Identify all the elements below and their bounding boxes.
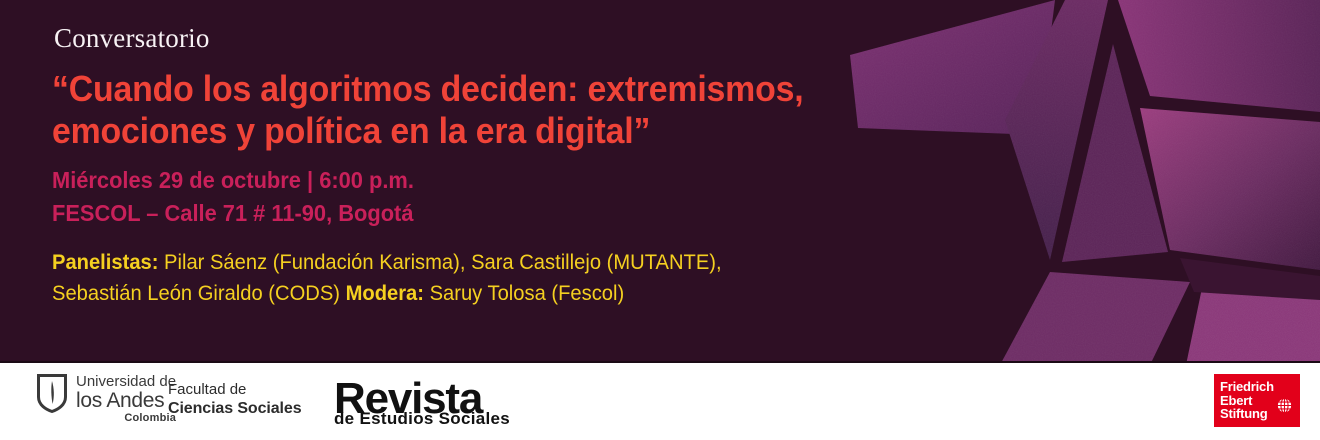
fes-line-1: Friedrich	[1220, 380, 1274, 394]
event-meta: Miércoles 29 de octubre | 6:00 p.m. FESC…	[52, 164, 839, 231]
logo-facultad-ciencias-sociales: Facultad de Ciencias Sociales	[168, 381, 302, 419]
logo-friedrich-ebert-stiftung: Friedrich Ebert Stiftung	[1214, 374, 1300, 427]
logo-footer: Universidad de los Andes Colombia Facult…	[0, 361, 1320, 440]
facultad-line-1: Facultad de	[168, 381, 302, 399]
page-title: “Cuando los algoritmos deciden: extremis…	[52, 68, 830, 152]
facultad-line-2: Ciencias Sociales	[168, 399, 302, 419]
panelists-line-1: Panelistas: Pilar Sáenz (Fundación Karis…	[52, 247, 847, 278]
banner-content: Conversatorio “Cuando los algoritmos dec…	[0, 0, 880, 365]
panelists-block: Panelistas: Pilar Sáenz (Fundación Karis…	[52, 247, 847, 309]
uniandes-wordmark: Universidad de los Andes Colombia	[76, 373, 176, 425]
panelists-names-1: Pilar Sáenz (Fundación Karisma), Sara Ca…	[158, 251, 721, 274]
panelists-line-2: Sebastián León Giraldo (CODS) Modera: Sa…	[52, 278, 847, 309]
uniandes-line-3: Colombia	[76, 413, 176, 424]
uniandes-line-1: Universidad de	[76, 374, 176, 390]
uniandes-line-2: los Andes	[76, 390, 176, 412]
moderator-name: Saruy Tolosa (Fescol)	[424, 282, 624, 305]
geometric-artwork	[850, 0, 1320, 365]
globe-icon	[1276, 397, 1293, 414]
kicker-label: Conversatorio	[54, 24, 880, 54]
panelists-names-2: Sebastián León Giraldo (CODS)	[52, 282, 346, 305]
fes-line-3: Stiftung	[1220, 407, 1274, 421]
moderator-label: Modera:	[346, 282, 424, 305]
fes-wordmark: Friedrich Ebert Stiftung	[1220, 380, 1274, 422]
fes-line-2: Ebert	[1220, 394, 1274, 408]
revista-line-2: de Estudios Sociales	[334, 409, 510, 429]
title-line-2: emociones y política en la era digital”	[52, 110, 650, 151]
shield-quill-icon	[36, 373, 68, 413]
event-venue: FESCOL – Calle 71 # 11-90, Bogotá	[52, 197, 839, 230]
event-date: Miércoles 29 de octubre | 6:00 p.m.	[52, 164, 839, 197]
title-line-1: “Cuando los algoritmos deciden: extremis…	[52, 68, 803, 109]
logo-universidad-de-los-andes: Universidad de los Andes Colombia	[36, 373, 176, 425]
panelists-label: Panelistas:	[52, 251, 158, 274]
logo-revista-estudios-sociales: Revista de Estudios Sociales	[334, 379, 510, 429]
event-banner: Conversatorio “Cuando los algoritmos dec…	[0, 0, 1320, 440]
